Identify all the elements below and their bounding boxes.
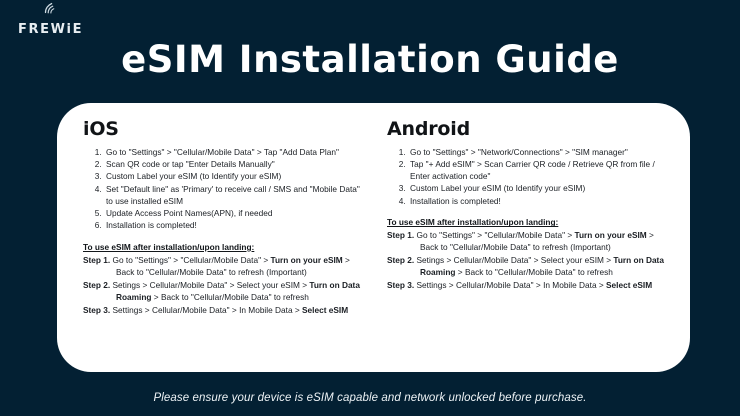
usage-step: Step 1. Go to "Settings" > "Cellular/Mob… xyxy=(83,254,369,278)
android-usage-steps: Step 1. Go to "Settings" > "Cellular/Mob… xyxy=(387,229,664,291)
list-item: Go to "Settings" > "Cellular/Mobile Data… xyxy=(104,147,369,159)
ios-usage-block: To use eSIM after installation/upon land… xyxy=(83,241,369,316)
usage-step-label: Step 3. xyxy=(83,305,110,315)
instructions-card: iOS Go to "Settings" > "Cellular/Mobile … xyxy=(57,103,690,372)
android-heading: Android xyxy=(387,119,664,140)
usage-step-text: Setings > Cellular/Mobile Data" > Select… xyxy=(110,280,309,290)
usage-step-label: Step 1. xyxy=(83,255,110,265)
list-item: Scan QR code or tap "Enter Details Manua… xyxy=(104,159,369,171)
usage-step-text: > Back to "Cellular/Mobile Data" to refr… xyxy=(152,292,309,302)
usage-step-label: Step 2. xyxy=(387,255,414,265)
list-item: Set "Default line" as 'Primary' to recei… xyxy=(104,184,369,208)
ios-usage-title: To use eSIM after installation/upon land… xyxy=(83,241,369,253)
wifi-arc-icon xyxy=(43,1,59,14)
ios-column: iOS Go to "Settings" > "Cellular/Mobile … xyxy=(83,119,369,362)
footer-note: Please ensure your device is eSIM capabl… xyxy=(0,392,740,404)
list-item: Installation is completed! xyxy=(104,220,369,232)
usage-step-text: Turn on your eSIM xyxy=(271,255,343,265)
android-usage-block: To use eSIM after installation/upon land… xyxy=(387,216,664,291)
brand-wordmark: FREWiE xyxy=(18,23,83,36)
list-item: Custom Label your eSIM (to Identify your… xyxy=(408,183,664,195)
usage-step: Step 2. Setings > Cellular/Mobile Data" … xyxy=(387,254,664,278)
ios-heading: iOS xyxy=(83,119,369,140)
usage-step-text: Settings > Cellular/Mobile Data" > In Mo… xyxy=(414,280,606,290)
ios-usage-steps: Step 1. Go to "Settings" > "Cellular/Mob… xyxy=(83,254,369,316)
list-item: Installation is completed! xyxy=(408,196,664,208)
usage-step: Step 1. Go to "Settings" > "Cellular/Mob… xyxy=(387,229,664,253)
list-item: Update Access Point Names(APN), if neede… xyxy=(104,208,369,220)
usage-step-label: Step 3. xyxy=(387,280,414,290)
usage-step-text: Go to "Settings" > "Cellular/Mobile Data… xyxy=(110,255,270,265)
list-item: Custom Label your eSIM (to Identify your… xyxy=(104,171,369,183)
usage-step: Step 2. Setings > Cellular/Mobile Data" … xyxy=(83,279,369,303)
android-column: Android Go to "Settings" > "Network/Conn… xyxy=(387,119,664,362)
page-title: eSIM Installation Guide xyxy=(0,40,740,81)
list-item: Go to "Settings" > "Network/Connections"… xyxy=(408,147,664,159)
usage-step-label: Step 1. xyxy=(387,230,414,240)
usage-step: Step 3. Settings > Cellular/Mobile Data"… xyxy=(83,304,369,316)
brand-logo: FREWiE xyxy=(18,12,83,36)
usage-step: Step 3. Settings > Cellular/Mobile Data"… xyxy=(387,279,664,291)
usage-step-text: Turn on your eSIM xyxy=(575,230,647,240)
usage-step-text: Go to "Settings" > "Cellular/Mobile Data… xyxy=(414,230,574,240)
usage-step-text: Settings > Cellular/Mobile Data" > In Mo… xyxy=(110,305,302,315)
usage-step-text: Select eSIM xyxy=(302,305,348,315)
android-usage-title: To use eSIM after installation/upon land… xyxy=(387,216,664,228)
usage-step-text: Setings > Cellular/Mobile Data" > Select… xyxy=(414,255,613,265)
ios-steps-list: Go to "Settings" > "Cellular/Mobile Data… xyxy=(83,147,369,232)
usage-step-text: Select eSIM xyxy=(606,280,652,290)
usage-step-label: Step 2. xyxy=(83,280,110,290)
usage-step-text: > Back to "Cellular/Mobile Data" to refr… xyxy=(456,267,613,277)
android-steps-list: Go to "Settings" > "Network/Connections"… xyxy=(387,147,664,207)
list-item: Tap "+ Add eSIM" > Scan Carrier QR code … xyxy=(408,159,664,183)
